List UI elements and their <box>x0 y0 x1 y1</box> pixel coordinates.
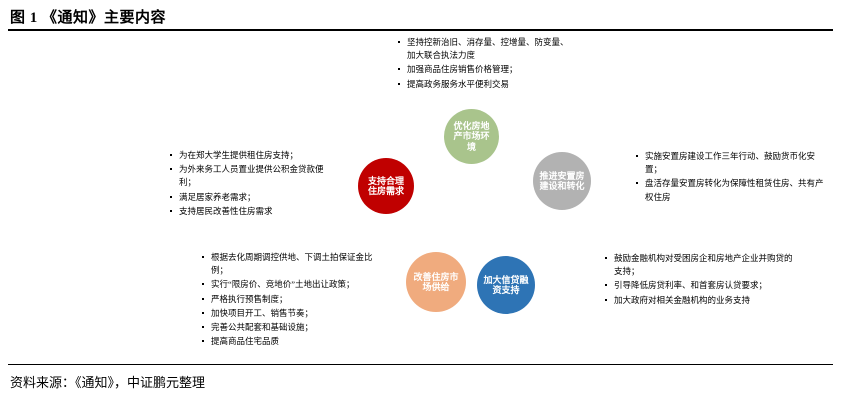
diagram-node-label: 推进安置房建设和转化 <box>533 171 591 192</box>
bullet-item: 加强商品住房销售价格管理； <box>396 63 576 76</box>
header-divider <box>8 29 833 31</box>
diagram-node-label: 加大信贷融资支持 <box>477 275 535 296</box>
bullet-item: 严格执行预售制度； <box>200 293 386 306</box>
bullet-list: 实施安置房建设工作三年行动、鼓励货币化安置；盘活存量安置房转化为保障性租赁住房、… <box>634 150 824 204</box>
bullet-item: 为在郑大学生提供租住房支持； <box>168 149 340 162</box>
bullet-item: 坚持控新治旧、消存量、控增量、防变量、加大联合执法力度 <box>396 36 576 62</box>
diagram-node-resettlement: 推进安置房建设和转化 <box>533 152 591 210</box>
bullet-item: 提高政务服务水平便利交易 <box>396 78 576 91</box>
text-block-block-resettlement: 实施安置房建设工作三年行动、鼓励货币化安置；盘活存量安置房转化为保障性租赁住房、… <box>634 150 824 205</box>
bullet-list: 为在郑大学生提供租住房支持；为外来务工人员置业提供公积金贷款便利；满足居家养老需… <box>168 149 340 218</box>
bullet-item: 完善公共配套和基础设施； <box>200 321 386 334</box>
diagram-node-market-env: 优化房地产市场环境 <box>444 109 499 164</box>
diagram-node-label: 优化房地产市场环境 <box>444 121 499 152</box>
diagram-node-supply: 改善住房市场供给 <box>406 252 466 312</box>
text-block-block-demand: 为在郑大学生提供租住房支持；为外来务工人员置业提供公积金贷款便利；满足居家养老需… <box>168 149 340 219</box>
bullet-item: 实行“限房价、竞地价”土地出让政策； <box>200 278 386 291</box>
bullet-item: 鼓励金融机构对受困房企和房地产企业并购贷的支持； <box>603 252 795 278</box>
bullet-item: 引导降低房贷利率、和首套房认贷要求； <box>603 279 795 292</box>
bullet-item: 加大政府对相关金融机构的业务支持 <box>603 294 795 307</box>
bullet-item: 盘活存量安置房转化为保障性租赁住房、共有产权住房 <box>634 177 824 203</box>
diagram-node-credit: 加大信贷融资支持 <box>477 256 535 314</box>
diagram-node-label: 支持合理住房需求 <box>358 176 414 197</box>
footer-divider <box>8 364 833 365</box>
text-block-block-credit: 鼓励金融机构对受困房企和房地产企业并购贷的支持；引导降低房贷利率、和首套房认贷要… <box>603 252 795 308</box>
bullet-item: 加快项目开工、销售节奏； <box>200 307 386 320</box>
bullet-item: 实施安置房建设工作三年行动、鼓励货币化安置； <box>634 150 824 176</box>
bullet-list: 坚持控新治旧、消存量、控增量、防变量、加大联合执法力度加强商品住房销售价格管理；… <box>396 36 576 91</box>
figure-title: 图 1 《通知》主要内容 <box>10 6 166 27</box>
diagram-node-label: 改善住房市场供给 <box>406 272 466 293</box>
text-block-block-market-env: 坚持控新治旧、消存量、控增量、防变量、加大联合执法力度加强商品住房销售价格管理；… <box>396 36 576 92</box>
bullet-list: 鼓励金融机构对受困房企和房地产企业并购贷的支持；引导降低房贷利率、和首套房认贷要… <box>603 252 795 307</box>
diagram-node-core: 支持合理住房需求 <box>358 158 414 214</box>
bullet-list: 根据去化周期调控供地、下调土拍保证金比例；实行“限房价、竞地价”土地出让政策；严… <box>200 251 386 348</box>
bullet-item: 为外来务工人员置业提供公积金贷款便利； <box>168 163 340 189</box>
text-block-block-supply: 根据去化周期调控供地、下调土拍保证金比例；实行“限房价、竞地价”土地出让政策；严… <box>200 251 386 349</box>
figure-container: 图 1 《通知》主要内容 支持合理住房需求优化房地产市场环境推进安置房建设和转化… <box>0 0 841 401</box>
figure-source: 资料来源：《通知》，中证鹏元整理 <box>10 372 205 391</box>
bullet-item: 满足居家养老需求； <box>168 191 340 204</box>
bullet-item: 根据去化周期调控供地、下调土拍保证金比例； <box>200 251 386 277</box>
bullet-item: 支持居民改善性住房需求 <box>168 205 340 218</box>
bullet-item: 提高商品住宅品质 <box>200 335 386 348</box>
